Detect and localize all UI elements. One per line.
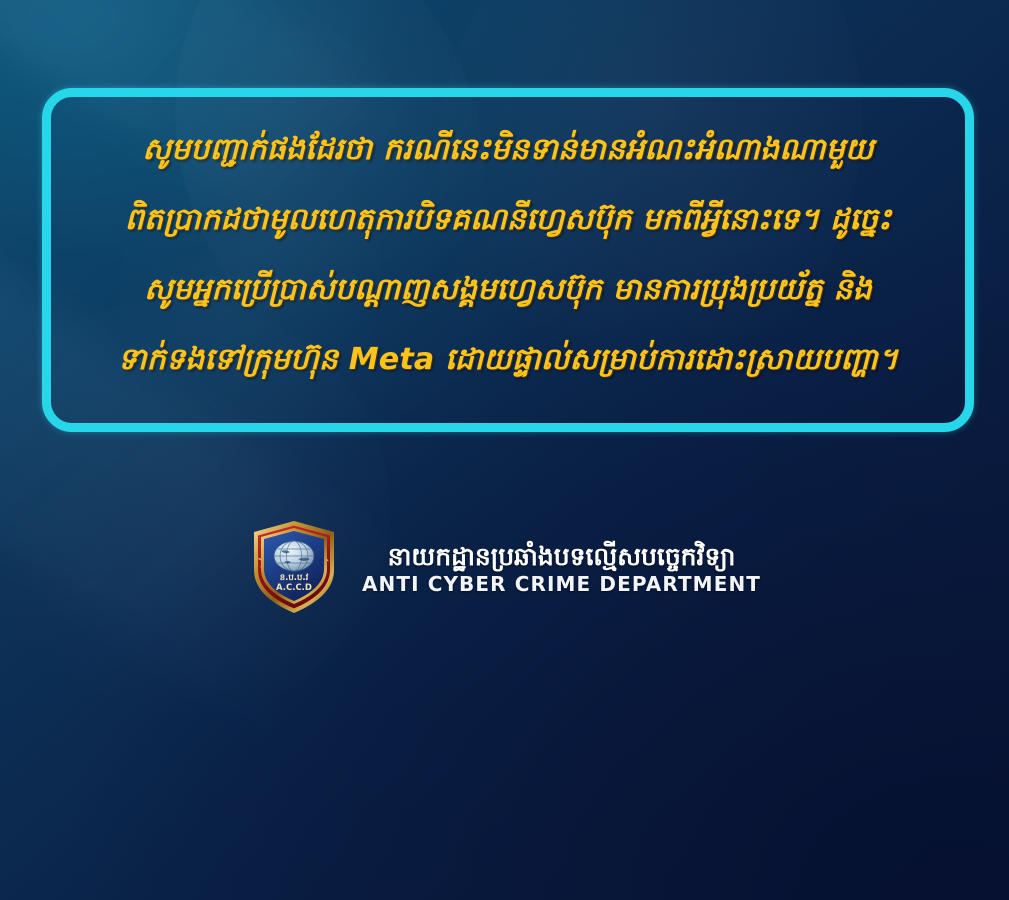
announcement-line: ទាក់ទងទៅក្រុមហ៊ុន Meta ដោយផ្ទាល់សម្រាប់ក…: [75, 325, 941, 395]
police-shield-badge-icon: ន.ប.ប.វ A.C.C.D: [248, 518, 340, 616]
announcement-card: សូមបញ្ជាក់ផងដែរថា ករណីនេះមិនទាន់មានអំណះអ…: [42, 88, 974, 432]
svg-text:A.C.C.D: A.C.C.D: [276, 583, 312, 593]
agency-logo-lockup: ន.ប.ប.វ A.C.C.D នាយកដ្ឋានប្រឆាំងបទល្មើសប…: [0, 518, 1009, 616]
public-notice-poster: សូមបញ្ជាក់ផងដែរថា ករណីនេះមិនទាន់មានអំណះអ…: [0, 0, 1009, 900]
agency-name-block: នាយកដ្ឋានប្រឆាំងបទល្មើសបច្ចេកវិទ្យា ANTI…: [362, 542, 761, 597]
announcement-text-block: សូមបញ្ជាក់ផងដែរថា ករណីនេះមិនទាន់មានអំណះអ…: [51, 115, 965, 395]
svg-text:ន.ប.ប.វ: ន.ប.ប.វ: [280, 573, 309, 583]
announcement-line: សូមបញ្ជាក់ផងដែរថា ករណីនេះមិនទាន់មានអំណះអ…: [75, 115, 941, 185]
agency-name-khmer: នាយកដ្ឋានប្រឆាំងបទល្មើសបច្ចេកវិទ្យា: [388, 542, 736, 572]
announcement-line: ពិតប្រាកដថាមូលហេតុការបិទគណនីហ្វេសប៊ុក មក…: [75, 185, 941, 255]
agency-name-english: ANTI CYBER CRIME DEPARTMENT: [362, 572, 761, 596]
announcement-line: សូមអ្នកប្រើប្រាស់បណ្តាញសង្គមហ្វេសប៊ុក មា…: [75, 255, 941, 325]
